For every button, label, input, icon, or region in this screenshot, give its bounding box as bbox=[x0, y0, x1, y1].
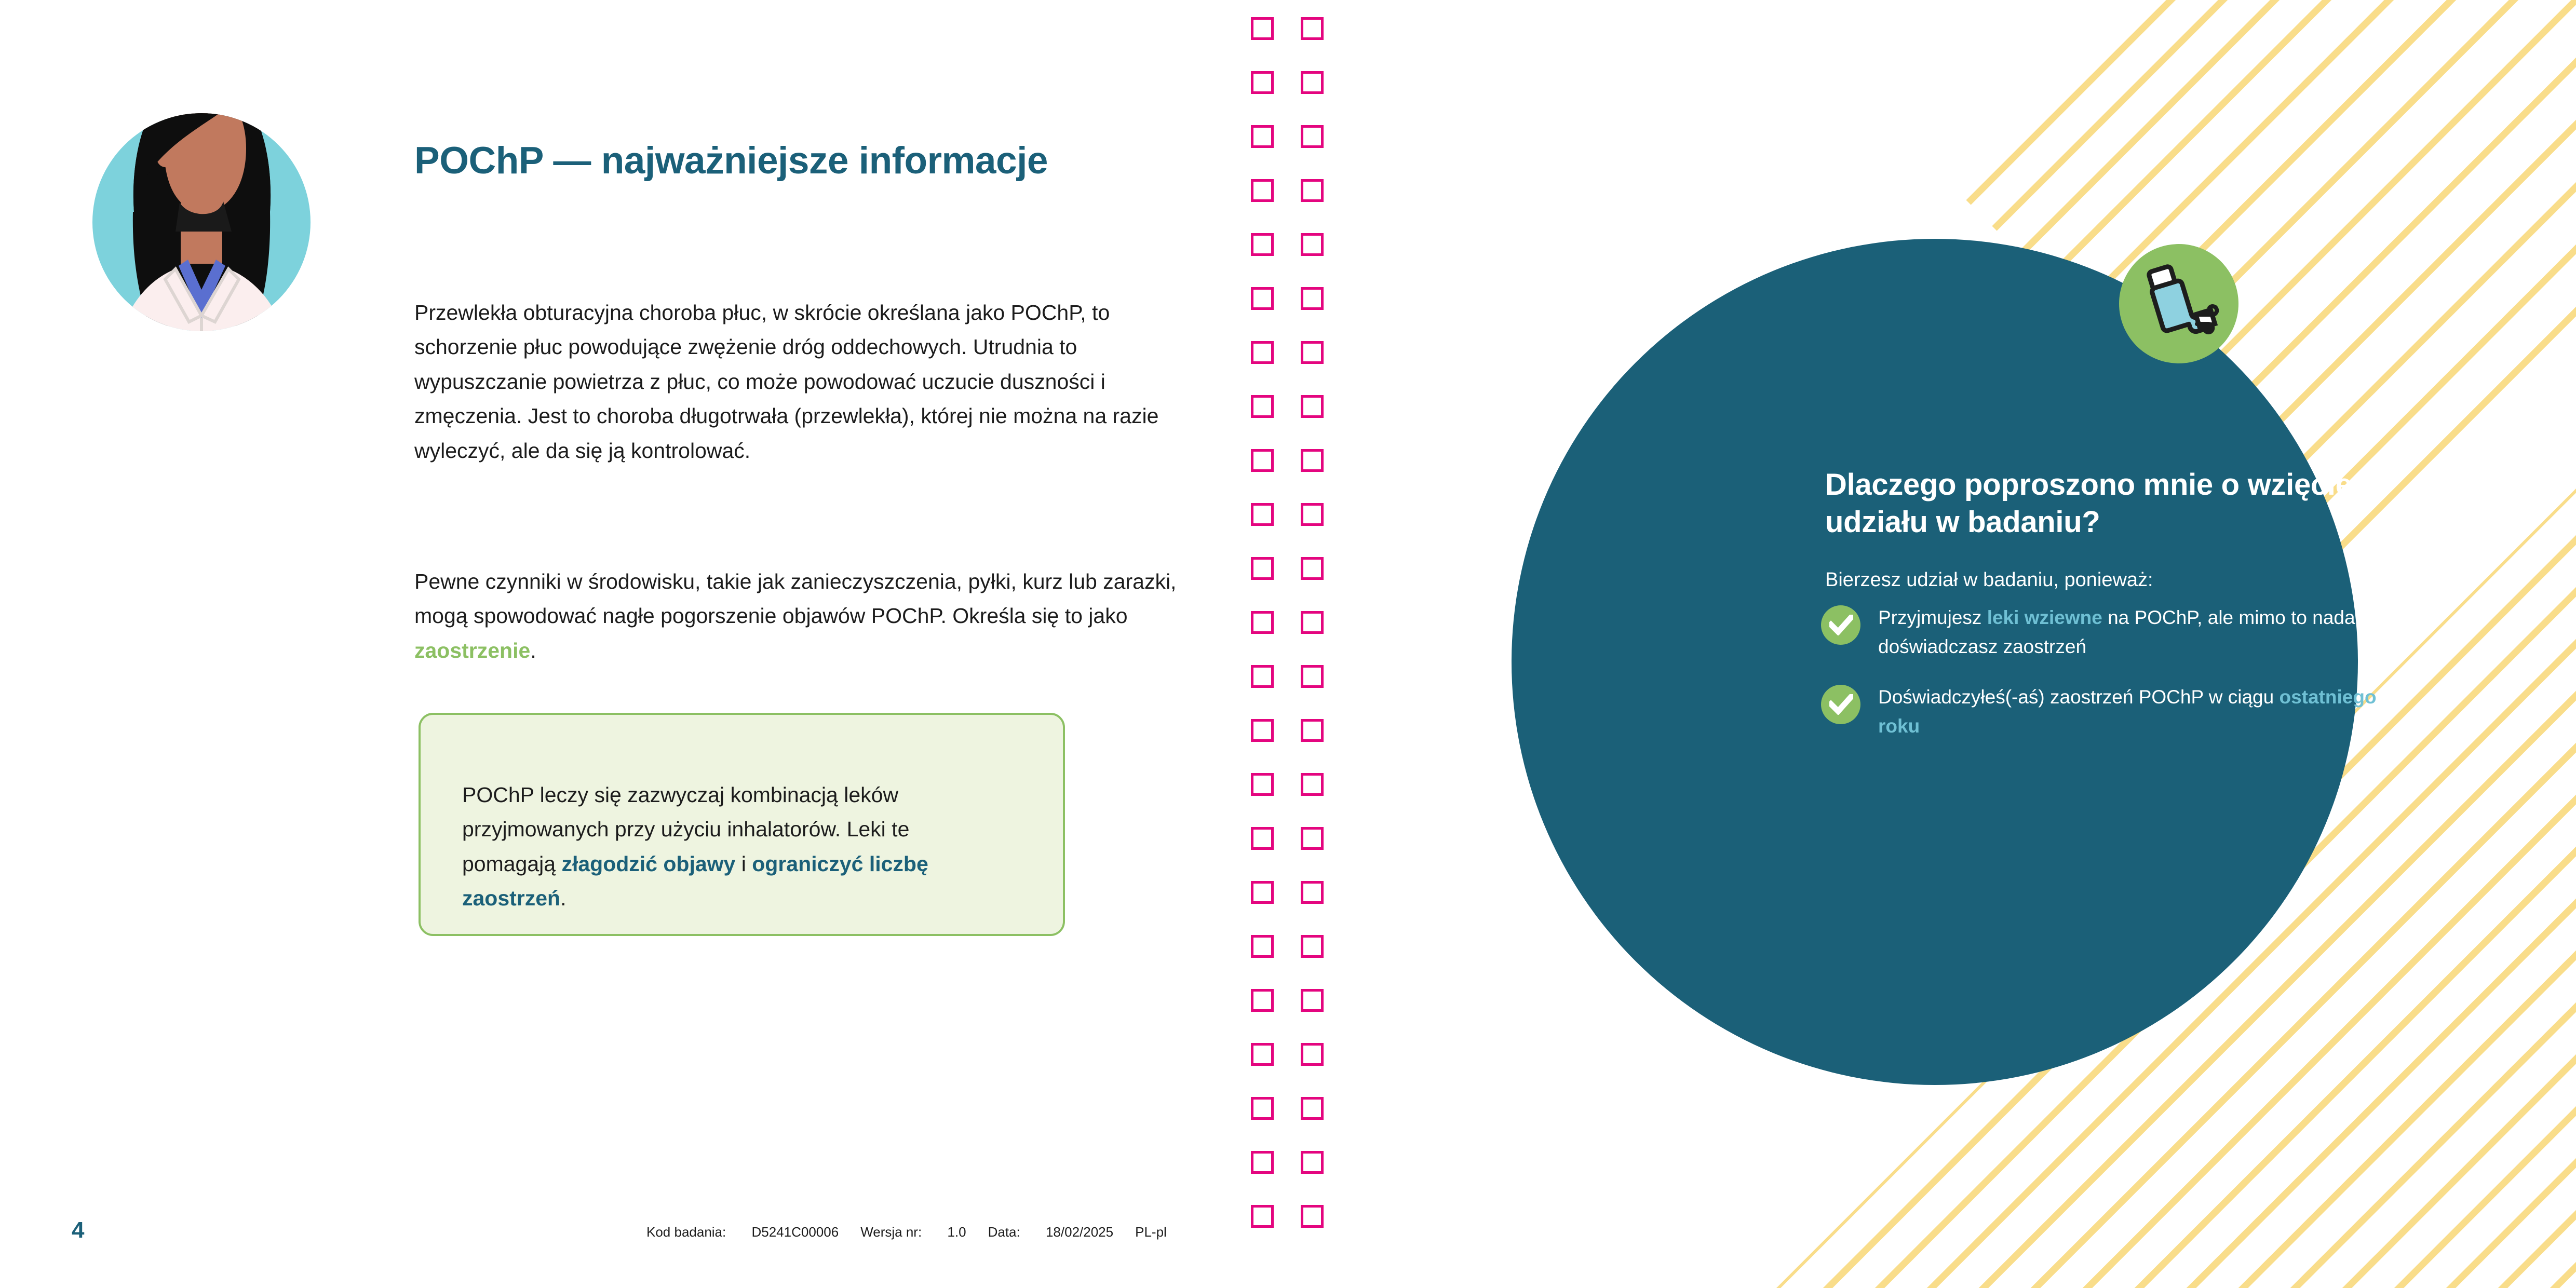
list-item-text: Przyjmujesz leki wziewne na POChP, ale m… bbox=[1878, 602, 2403, 661]
checkbox-left[interactable] bbox=[1251, 449, 1274, 472]
circle-lead-text: Bierzesz udział w badaniu, ponieważ: bbox=[1825, 566, 2376, 594]
checkbox-left[interactable] bbox=[1251, 665, 1274, 688]
intro-paragraph-text: Przewlekła obturacyjna choroba płuc, w s… bbox=[414, 301, 1158, 463]
left-page: POChP — najważniejsze informacje Przewle… bbox=[0, 0, 1288, 1288]
callout-bold-relieve: złagodzić objawy bbox=[561, 852, 735, 876]
checkbox-left[interactable] bbox=[1251, 1205, 1274, 1228]
triggers-paragraph: Pewne czynniki w środowisku, takie jak z… bbox=[414, 564, 1183, 668]
doctor-illustration bbox=[92, 56, 311, 388]
checkbox-left[interactable] bbox=[1251, 719, 1274, 742]
checkbox-left[interactable] bbox=[1251, 1043, 1274, 1066]
inhaler-icon bbox=[2134, 257, 2225, 349]
page-number: 4 bbox=[72, 1217, 84, 1243]
brochure-spread: POChP — najważniejsze informacje Przewle… bbox=[0, 0, 2576, 1288]
bullet1-highlight: leki wziewne bbox=[1987, 607, 2102, 628]
footer-date: Data: 18/02/2025 bbox=[988, 1224, 1114, 1240]
callout-tail: . bbox=[560, 886, 566, 910]
checkbox-left[interactable] bbox=[1251, 611, 1274, 634]
checkbox-left[interactable] bbox=[1251, 179, 1274, 202]
checkbox-left[interactable] bbox=[1251, 287, 1274, 310]
checkbox-left[interactable] bbox=[1251, 503, 1274, 526]
callout-conjunction: i bbox=[735, 852, 752, 876]
checkbox-left[interactable] bbox=[1251, 827, 1274, 850]
checkbox-left[interactable] bbox=[1251, 1151, 1274, 1174]
checkbox-left[interactable] bbox=[1251, 17, 1274, 40]
checkbox-left[interactable] bbox=[1251, 773, 1274, 796]
checkbox-left[interactable] bbox=[1251, 989, 1274, 1012]
footer-version: Wersja nr: 1.0 bbox=[860, 1224, 966, 1240]
list-item: Przyjmujesz leki wziewne na POChP, ale m… bbox=[1821, 602, 2403, 661]
list-item-text: Doświadczyłeś(-aś) zaostrzeń POChP w cią… bbox=[1878, 682, 2403, 740]
footer-locale: PL-pl bbox=[1135, 1224, 1167, 1240]
check-icon bbox=[1821, 605, 1860, 645]
inhaler-badge bbox=[2119, 244, 2238, 363]
list-item: Doświadczyłeś(-aś) zaostrzeń POChP w cią… bbox=[1821, 682, 2403, 740]
footer-study-code: Kod badania: D5241C00006 bbox=[646, 1224, 839, 1240]
triggers-text-tail: . bbox=[530, 639, 536, 662]
exacerbation-highlight: zaostrzenie bbox=[414, 639, 530, 662]
checkbox-left[interactable] bbox=[1251, 881, 1274, 904]
checkbox-left[interactable] bbox=[1251, 125, 1274, 148]
circle-title: Dlaczego poproszono mnie o wzięcie udzia… bbox=[1825, 466, 2376, 541]
treatment-callout-box: POChP leczy się zazwyczaj kombinacją lek… bbox=[419, 713, 1065, 936]
page-title: POChP — najważniejsze informacje bbox=[414, 139, 1089, 184]
treatment-callout-text: POChP leczy się zazwyczaj kombinacją lek… bbox=[462, 778, 987, 916]
checkbox-left[interactable] bbox=[1251, 395, 1274, 418]
checkbox-left[interactable] bbox=[1251, 71, 1274, 94]
checkbox-left[interactable] bbox=[1251, 935, 1274, 958]
bullet2-lead: Doświadczyłeś(-aś) zaostrzeń POChP w cią… bbox=[1878, 686, 2279, 708]
check-icon bbox=[1821, 685, 1860, 724]
checkbox-left[interactable] bbox=[1251, 557, 1274, 580]
intro-paragraph: Przewlekła obturacyjna choroba płuc, w s… bbox=[414, 295, 1183, 468]
checkbox-left[interactable] bbox=[1251, 1097, 1274, 1120]
checkbox-left[interactable] bbox=[1251, 233, 1274, 256]
bullet1-lead: Przyjmujesz bbox=[1878, 607, 1987, 628]
right-page: Dlaczego poproszono mnie o wzięcie udzia… bbox=[1288, 0, 2576, 1288]
triggers-text-lead: Pewne czynniki w środowisku, takie jak z… bbox=[414, 570, 1176, 628]
eligibility-bullet-list: Przyjmujesz leki wziewne na POChP, ale m… bbox=[1821, 602, 2403, 761]
footer-meta-left: Kod badania: D5241C00006Wersja nr: 1.0Da… bbox=[646, 1224, 1167, 1240]
checkbox-left[interactable] bbox=[1251, 341, 1274, 364]
